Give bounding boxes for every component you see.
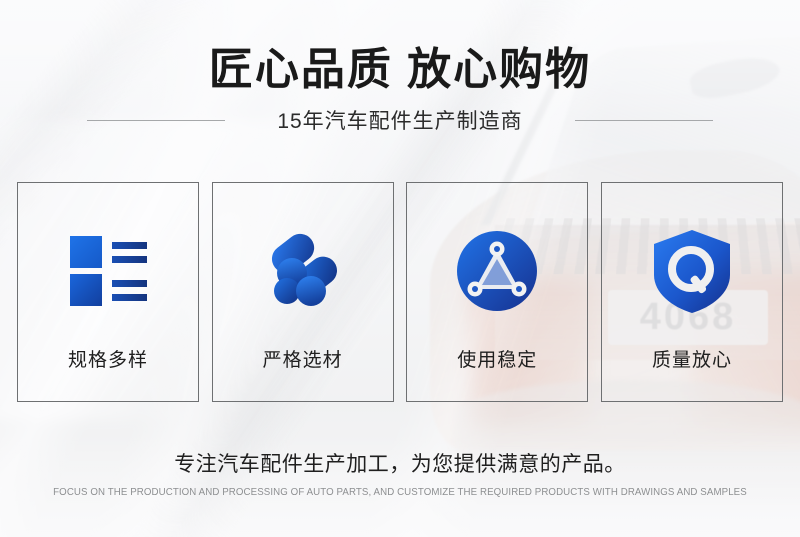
quality-shield-q-icon	[646, 225, 738, 317]
banner-content: 匠心品质 放心购物 15年汽车配件生产制造商	[0, 0, 800, 537]
page-subtitle: 15年汽车配件生产制造商	[277, 105, 522, 135]
footer-tagline-cn: 专注汽车配件生产加工，为您提供满意的产品。	[0, 448, 800, 478]
page-title: 匠心品质 放心购物	[0, 33, 800, 97]
feature-card-label: 质量放心	[602, 345, 782, 372]
feature-card-label: 使用稳定	[407, 345, 587, 372]
spec-list-icon	[62, 225, 154, 317]
feature-card-list: 规格多样	[17, 182, 783, 402]
feature-card-specs[interactable]: 规格多样	[17, 182, 199, 402]
footer-tagline-en: FOCUS ON THE PRODUCTION AND PROCESSING O…	[12, 487, 788, 498]
divider-line-right	[575, 120, 713, 121]
material-rods-icon	[257, 225, 349, 317]
divider-line-left	[87, 120, 225, 121]
feature-card-material[interactable]: 严格选材	[212, 182, 394, 402]
footer-block: 专注汽车配件生产加工，为您提供满意的产品。 FOCUS ON THE PRODU…	[0, 448, 800, 498]
feature-card-label: 规格多样	[18, 345, 198, 372]
feature-card-label: 严格选材	[213, 345, 393, 372]
subtitle-row: 15年汽车配件生产制造商	[0, 105, 800, 135]
feature-card-quality[interactable]: 质量放心	[601, 182, 783, 402]
stability-triangle-icon	[451, 225, 543, 317]
feature-card-stability[interactable]: 使用稳定	[406, 182, 588, 402]
